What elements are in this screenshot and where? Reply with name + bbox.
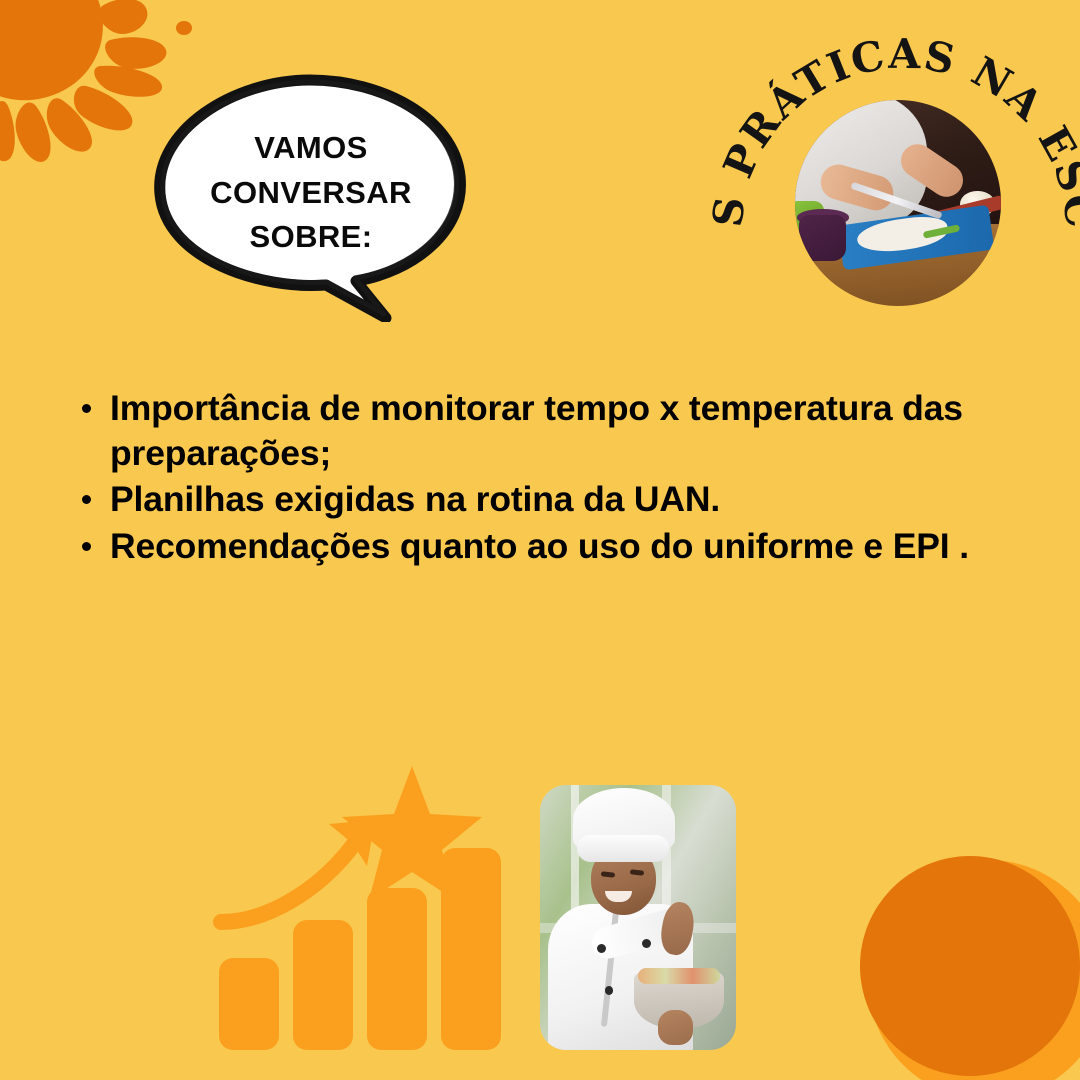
badge-boas-praticas: BOAS PRÁTICAS NA ESCOLA [718, 22, 1080, 322]
chart-bar [219, 958, 279, 1050]
list-item: Importância de monitorar tempo x tempera… [110, 386, 1037, 475]
chart-bars [219, 848, 501, 1050]
chart-bar [367, 888, 427, 1050]
chef-with-bowl-image [540, 785, 736, 1050]
growth-arrow-icon [221, 840, 357, 922]
bubble-line-2: CONVERSAR [210, 173, 412, 214]
topics-ul: Importância de monitorar tempo x tempera… [62, 386, 1037, 569]
speech-bubble: VAMOS CONVERSAR SOBRE: [150, 72, 472, 322]
poster-canvas: VAMOS CONVERSAR SOBRE: [0, 0, 1080, 1080]
chart-bar [441, 848, 501, 1050]
bubble-line-3: SOBRE: [250, 217, 373, 258]
topics-list: Importância de monitorar tempo x tempera… [62, 386, 1037, 571]
growth-chart-icon [205, 762, 515, 1062]
chart-bar [293, 920, 353, 1050]
chef-photo [540, 785, 736, 1050]
list-item: Planilhas exigidas na rotina da UAN. [110, 477, 1037, 522]
badge-arc-textpath: BOAS PRÁTICAS NA ESCOLA [699, 0, 1080, 232]
speech-bubble-text: VAMOS CONVERSAR SOBRE: [180, 108, 442, 278]
badge-arc-text: BOAS PRÁTICAS NA ESCOLA [718, 22, 1080, 322]
bubble-line-1: VAMOS [254, 128, 367, 169]
badge-arc-label: BOAS PRÁTICAS NA ESCOLA [699, 0, 1080, 232]
list-item: Recomendações quanto ao uso do uniforme … [110, 524, 1037, 569]
